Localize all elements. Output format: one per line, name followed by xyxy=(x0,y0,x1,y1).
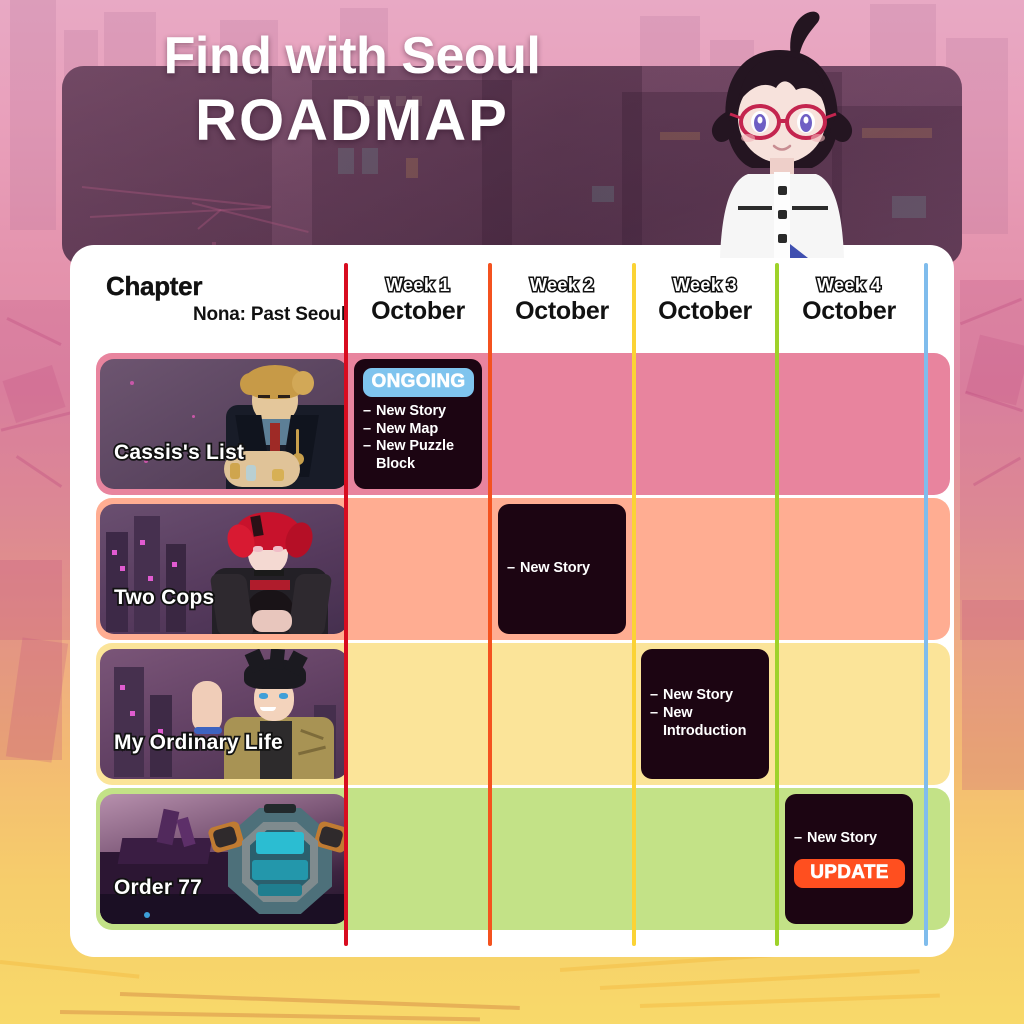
bullet-text: New Story xyxy=(520,560,618,578)
week-month-2: October xyxy=(490,297,634,326)
bullet-text: New Puzzle Block xyxy=(376,438,474,473)
week-month-4: October xyxy=(777,297,921,326)
week-card-order-77-week4[interactable]: – New Story UPDATE xyxy=(785,794,913,924)
title-block: Find with Seoul ROADMAP xyxy=(112,30,592,155)
week-label-2: Week 2 xyxy=(490,275,634,296)
two-cops-artwork xyxy=(100,504,348,634)
week-label-3: Week 3 xyxy=(633,275,777,296)
bullet-item: – New Story xyxy=(794,830,905,848)
chapter-column-header: Chapter Nona: Past Seoul xyxy=(106,271,346,326)
bullet-item: – New Story xyxy=(507,560,618,578)
week-header-3: Week 3 October xyxy=(633,275,777,326)
column-divider-4 xyxy=(775,263,779,946)
week-month-1: October xyxy=(346,297,490,326)
week-label-1: Week 1 xyxy=(346,275,490,296)
bullet-dash: – xyxy=(363,438,371,473)
chapter-thumbnail-ordinary-life[interactable]: My Ordinary Life xyxy=(100,649,348,779)
page-subtitle: ROADMAP xyxy=(112,88,592,155)
bullet-dash: – xyxy=(507,560,515,578)
status-badge-update: UPDATE xyxy=(794,859,905,888)
status-badge-ongoing: ONGOING xyxy=(363,368,474,397)
bullet-item: – New Puzzle Block xyxy=(363,438,474,473)
week-label-4: Week 4 xyxy=(777,275,921,296)
chapter-column-subtitle: Nona: Past Seoul xyxy=(106,304,346,326)
bullet-text: New Story xyxy=(807,830,905,848)
bullet-item: – New Introduction xyxy=(650,705,761,740)
chapter-column-title: Chapter xyxy=(106,271,346,302)
chapter-name-two-cops: Two Cops xyxy=(114,586,214,610)
bullet-dash: – xyxy=(650,705,658,740)
bullet-item: – New Story xyxy=(363,403,474,421)
week-card-two-cops-week2[interactable]: – New Story xyxy=(498,504,626,634)
column-divider-1 xyxy=(344,263,348,946)
bullet-dash: – xyxy=(650,687,658,705)
ordinary-life-artwork xyxy=(100,649,348,779)
bullet-text: New Map xyxy=(376,421,474,439)
bullet-dash: – xyxy=(363,403,371,421)
bullet-item: – New Story xyxy=(650,687,761,705)
bullet-text: New Introduction xyxy=(663,705,761,740)
week-card-cassis-week1[interactable]: ONGOING – New Story – New Map – New Puzz… xyxy=(354,359,482,489)
bullet-dash: – xyxy=(794,830,802,848)
week-header-4: Week 4 October xyxy=(777,275,921,326)
column-divider-2 xyxy=(488,263,492,946)
bullet-list-cassis: – New Story – New Map – New Puzzle Block xyxy=(363,403,474,474)
chapter-thumbnail-two-cops[interactable]: Two Cops xyxy=(100,504,348,634)
bullet-text: New Story xyxy=(376,403,474,421)
column-divider-end xyxy=(924,263,928,946)
week-card-ordinary-life-week3[interactable]: – New Story – New Introduction xyxy=(641,649,769,779)
chibi-mascot-icon xyxy=(690,8,870,258)
column-divider-3 xyxy=(632,263,636,946)
chapter-thumbnail-order-77[interactable]: Order 77 xyxy=(100,794,348,924)
bullet-list-ordinary-life: – New Story – New Introduction xyxy=(650,687,761,740)
chapter-name-ordinary-life: My Ordinary Life xyxy=(114,731,283,755)
roadmap-table-card: Chapter Nona: Past Seoul Week 1 October … xyxy=(70,245,954,957)
week-header-1: Week 1 October xyxy=(346,275,490,326)
table-header-row: Chapter Nona: Past Seoul Week 1 October … xyxy=(70,245,954,353)
chapter-name-cassis: Cassis's List xyxy=(114,441,244,465)
cassis-artwork xyxy=(100,359,348,489)
order-77-artwork xyxy=(100,794,348,924)
chapter-name-order-77: Order 77 xyxy=(114,876,202,900)
page-title: Find with Seoul xyxy=(112,30,592,82)
chapter-thumbnail-cassis[interactable]: Cassis's List xyxy=(100,359,348,489)
bullet-text: New Story xyxy=(663,687,761,705)
week-header-2: Week 2 October xyxy=(490,275,634,326)
bullet-dash: – xyxy=(363,421,371,439)
bullet-item: – New Map xyxy=(363,421,474,439)
week-month-3: October xyxy=(633,297,777,326)
